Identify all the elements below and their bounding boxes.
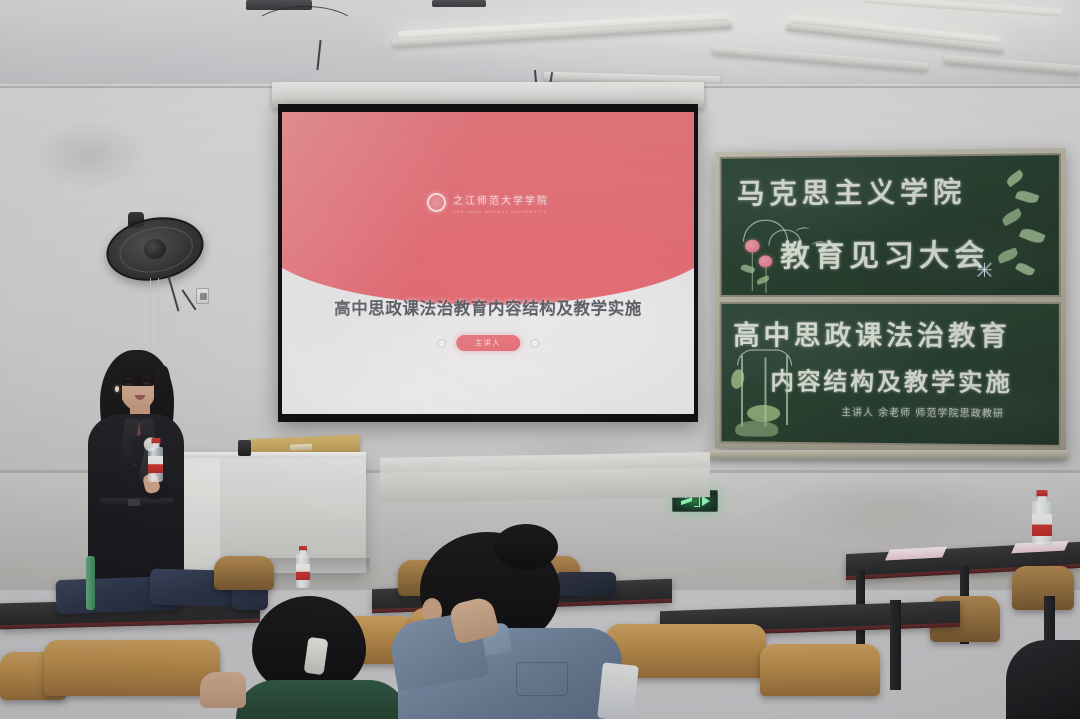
university-emblem-icon <box>427 193 446 212</box>
lectern-nameplate <box>290 444 312 451</box>
slide-subtitle-row: 主讲人 <box>437 335 539 351</box>
blackboard-heading-line1: 马克思主义学院 <box>737 170 966 212</box>
water-bottle <box>1032 490 1052 545</box>
classroom-photo: 之江师范大学学院 ZHEJIANG NORMAL UNIVERSITY 高中思政… <box>0 0 1080 719</box>
presenter-eye <box>125 383 132 386</box>
blackboard-topic-line2: 内容结构及教学实施 <box>770 361 1013 398</box>
denim-pocket <box>516 662 568 696</box>
table-object <box>238 440 251 456</box>
ceiling-vent <box>432 0 486 7</box>
blackboard-presenter-line: 主讲人 余老师 师范学院思政教研 <box>841 404 1004 420</box>
water-bottle <box>148 438 163 482</box>
student-green-jacket <box>236 596 386 719</box>
blackboard-bottom-panel: 高中思政课法治教育 内容结构及教学实施 主讲人 余老师 师范学院思政教研 <box>720 302 1061 447</box>
water-bottle <box>296 546 310 588</box>
blackboard-heading-line2: 教育见习大会 <box>780 230 989 275</box>
presenter-belt <box>100 498 174 507</box>
blackboard-topic-line1: 高中思政课法治教育 <box>733 314 1011 354</box>
foreground-figure <box>1006 640 1080 719</box>
student-hair-bun <box>494 524 558 570</box>
slide-dot-icon <box>437 339 446 348</box>
slide-logo: 之江师范大学学院 ZHEJIANG NORMAL UNIVERSITY <box>427 192 549 214</box>
foreground-paper <box>597 662 639 719</box>
slide-title: 高中思政课法治教育内容结构及教学实施 <box>334 295 642 319</box>
blackboard: 马克思主义学院 教育见习大会 高中思政课 <box>715 148 1066 452</box>
slide-logo-cn: 之江师范大学学院 <box>453 192 549 207</box>
presenter-eyebrow <box>124 378 133 380</box>
desk-trim <box>0 619 260 630</box>
chalk-plant-drawing <box>786 356 788 425</box>
fan-hub <box>142 237 167 261</box>
bottle-label <box>1032 514 1052 536</box>
presenter-eye <box>143 382 150 385</box>
auditorium-seat <box>44 640 220 696</box>
wall-mark <box>30 120 150 190</box>
slide-dot-icon <box>530 339 539 348</box>
earring <box>115 386 119 392</box>
wall-mark <box>760 470 1020 550</box>
chalk-arch-drawing <box>737 349 792 365</box>
chalk-leaf-drawing <box>735 421 778 437</box>
auditorium-seat <box>760 644 880 696</box>
projection-screen: 之江师范大学学院 ZHEJIANG NORMAL UNIVERSITY 高中思政… <box>278 104 698 422</box>
chalk-flower-drawing <box>745 240 760 253</box>
slide-logo-en: ZHEJIANG NORMAL UNIVERSITY <box>453 209 549 214</box>
presenter-eyebrow <box>142 377 151 379</box>
arrow-right-icon <box>702 496 710 506</box>
chalk-flower-drawing <box>759 255 773 267</box>
fan-pull-cord <box>158 278 159 344</box>
auditorium-seat <box>214 556 274 590</box>
ceiling-cable <box>252 6 358 52</box>
chalk-plant-drawing <box>741 355 743 426</box>
desk-leg <box>890 600 901 690</box>
bottle-label <box>148 456 163 473</box>
student-hand <box>200 672 246 708</box>
bottle-label <box>296 564 310 580</box>
student-jacket <box>236 680 408 719</box>
auditorium-seat <box>1012 566 1074 610</box>
presentation-slide: 之江师范大学学院 ZHEJIANG NORMAL UNIVERSITY 高中思政… <box>282 112 694 414</box>
chalk-tray <box>706 450 1068 459</box>
power-socket[interactable] <box>196 288 209 304</box>
front-table-front <box>380 467 710 503</box>
chalk-leaf-drawing <box>747 405 780 422</box>
blackboard-top-panel: 马克思主义学院 教育见习大会 <box>720 153 1061 297</box>
slide-badge: 主讲人 <box>456 335 520 351</box>
chalk-sparkle-drawing <box>977 263 991 277</box>
green-pole <box>86 556 95 610</box>
fan-pull-cord <box>150 278 151 356</box>
